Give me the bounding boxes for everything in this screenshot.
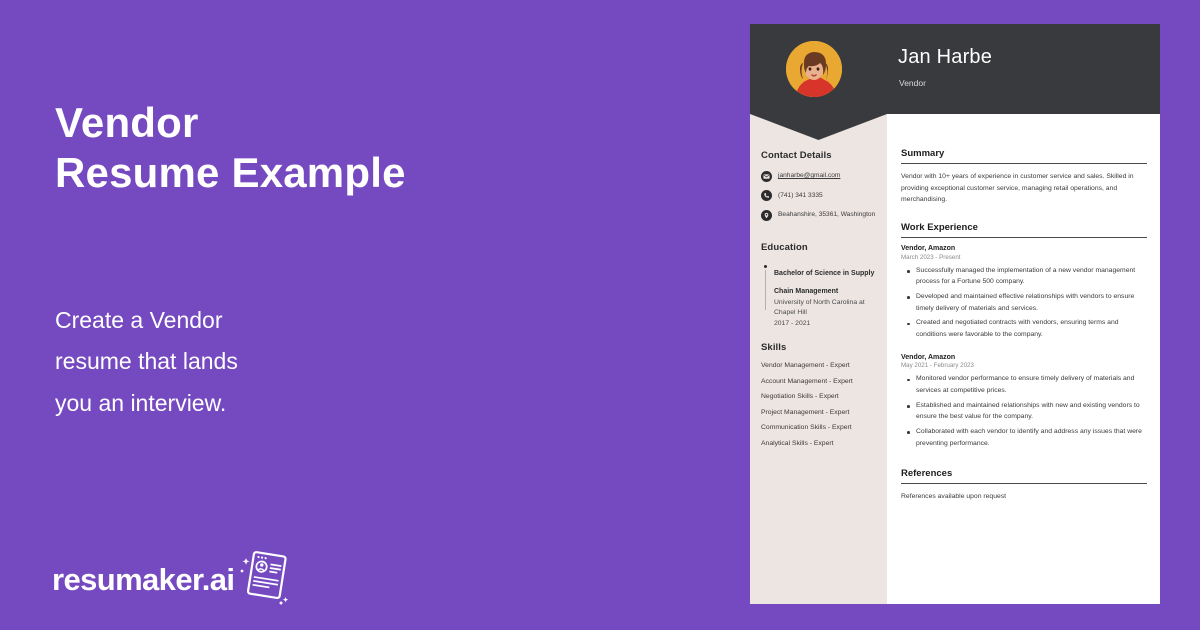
spacer (901, 344, 1147, 354)
page-title-line-2: Resume Example (55, 148, 406, 198)
list-item: Vendor Management - Expert (761, 362, 881, 369)
work-experience-entry: Vendor, Amazon May 2021 - February 2023 … (901, 354, 1147, 450)
timeline-bullet-icon (761, 262, 770, 310)
page-title-line-1: Vendor (55, 98, 406, 148)
promo-subtext: Create a Vendor resume that lands you an… (55, 300, 385, 424)
list-item: Analytical Skills - Expert (761, 440, 881, 447)
education-school: University of North Carolina at Chapel H… (774, 298, 881, 319)
list-item: Negotiation Skills - Expert (761, 393, 881, 400)
page-title: Vendor Resume Example (55, 98, 406, 199)
summary-text: Vendor with 10+ years of experience in c… (901, 171, 1147, 206)
list-item: Project Management - Expert (761, 409, 881, 416)
education-dates: 2017 - 2021 (774, 319, 881, 330)
resume-job-title: Vendor (899, 78, 926, 88)
job-dates: March 2023 - Present (901, 254, 1147, 261)
job-bullet-list: Successfully managed the implementation … (903, 265, 1147, 341)
contact-phone-text: (741) 341 3335 (778, 190, 823, 201)
summary-heading: Summary (901, 148, 1147, 164)
education-degree: Bachelor of Science in Supply Chain Mana… (774, 270, 874, 295)
job-title: Vendor, Amazon (901, 245, 1147, 252)
promo-subtext-line-3: you an interview. (55, 383, 385, 424)
location-pin-icon (761, 210, 772, 221)
promo-subtext-line-2: resume that lands (55, 341, 385, 382)
list-item: Collaborated with each vendor to identif… (903, 426, 1147, 449)
resume-main-content: Summary Vendor with 10+ years of experie… (901, 148, 1147, 503)
sidebar-content: Contact Details janharbe@gmail.com (741)… (761, 150, 881, 455)
education-entry: Bachelor of Science in Supply Chain Mana… (761, 262, 881, 330)
resume-name: Jan Harbe (898, 46, 992, 69)
list-item: Established and maintained relationships… (903, 400, 1147, 423)
list-item: Communication Skills - Expert (761, 424, 881, 431)
contact-item-email[interactable]: janharbe@gmail.com (761, 170, 881, 182)
header-chevron-shape (750, 114, 887, 140)
work-experience-entry: Vendor, Amazon March 2023 - Present Succ… (901, 245, 1147, 341)
email-icon (761, 171, 772, 182)
resumaker-logo[interactable]: resumaker.ai (52, 552, 292, 608)
job-bullet-list: Monitored vendor performance to ensure t… (903, 373, 1147, 449)
skills-heading: Skills (761, 342, 881, 353)
list-item: Monitored vendor performance to ensure t… (903, 373, 1147, 396)
resume-preview-card[interactable]: Jan Harbe Vendor Contact Details janharb… (750, 24, 1160, 604)
phone-icon (761, 190, 772, 201)
spacer (901, 206, 1147, 222)
promo-subtext-line-1: Create a Vendor (55, 300, 385, 341)
list-item: Account Management - Expert (761, 378, 881, 385)
spacer (761, 229, 881, 242)
references-heading: References (901, 468, 1147, 484)
spacer (761, 329, 881, 342)
work-experience-heading: Work Experience (901, 222, 1147, 238)
contact-item-phone[interactable]: (741) 341 3335 (761, 190, 881, 202)
avatar (786, 41, 842, 97)
logo-wordmark: resumaker.ai (52, 562, 234, 598)
list-item: Created and negotiated contracts with ve… (903, 317, 1147, 340)
spacer (901, 452, 1147, 468)
references-text: References available upon request (901, 491, 1147, 503)
contact-item-location: Beahanshire, 35361, Washington (761, 209, 881, 221)
resume-document-icon (236, 552, 292, 608)
promo-panel: Vendor Resume Example Create a Vendor re… (0, 0, 750, 630)
contact-location-text: Beahanshire, 35361, Washington (778, 209, 875, 220)
resume-header-banner: Jan Harbe Vendor (750, 24, 1160, 114)
job-title: Vendor, Amazon (901, 354, 1147, 361)
contact-email-text[interactable]: janharbe@gmail.com (778, 170, 840, 181)
job-dates: May 2021 - February 2023 (901, 362, 1147, 369)
list-item: Developed and maintained effective relat… (903, 291, 1147, 314)
education-heading: Education (761, 242, 881, 253)
contact-details-heading: Contact Details (761, 150, 881, 161)
list-item: Successfully managed the implementation … (903, 265, 1147, 288)
